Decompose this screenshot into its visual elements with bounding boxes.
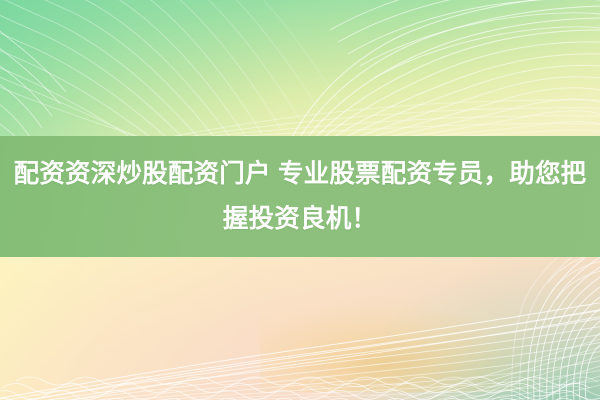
headline-band: 配资资深炒股配资门户 专业股票配资专员，助您把握投资良机！ [0,136,600,257]
top-line-pattern [0,0,600,137]
bottom-decoration-area [0,257,600,400]
top-decoration-area [0,0,600,137]
promo-banner: 配资资深炒股配资门户 专业股票配资专员，助您把握投资良机！ [0,0,600,400]
bottom-line-pattern [0,257,600,400]
headline-text: 配资资深炒股配资门户 专业股票配资专员，助您把握投资良机！ [4,152,596,242]
